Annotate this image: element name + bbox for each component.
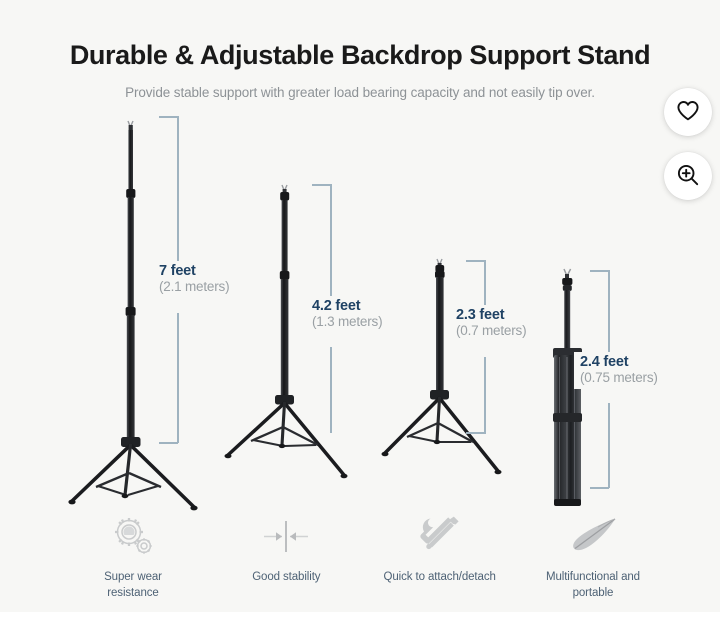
product-image[interactable]: Durable & Adjustable Backdrop Support St… bbox=[0, 0, 720, 612]
feature-super-wear-resistance: Super wearresistance bbox=[58, 512, 208, 608]
feature-label: Quick to attach/detach bbox=[365, 570, 515, 586]
stands-stage: 7 feet (2.1 meters) bbox=[0, 105, 720, 505]
stand-full-extended bbox=[62, 119, 212, 509]
feather-icon bbox=[518, 512, 668, 560]
tools-icon bbox=[365, 512, 515, 560]
feature-quick-attach-detach: Quick to attach/detach bbox=[365, 512, 515, 608]
add-to-wishlist-button[interactable] bbox=[664, 88, 712, 136]
stability-icon bbox=[211, 512, 361, 560]
dimension-label-stand-mid-extended: 4.2 feet (1.3 meters) bbox=[306, 296, 389, 333]
stand-low-extended bbox=[382, 257, 512, 513]
product-image-subtitle: Provide stable support with greater load… bbox=[0, 85, 720, 100]
magnifier-plus-icon bbox=[676, 163, 700, 190]
feature-multifunctional-portable: Multifunctional andportable bbox=[518, 512, 668, 608]
stand-mid-extended bbox=[222, 183, 362, 513]
heart-icon bbox=[676, 100, 700, 125]
feature-label: Multifunctional andportable bbox=[518, 570, 668, 601]
dimension-label-stand-folded: 2.4 feet (0.75 meters) bbox=[574, 352, 665, 389]
product-image-title: Durable & Adjustable Backdrop Support St… bbox=[0, 40, 720, 71]
feature-good-stability: Good stability bbox=[211, 512, 361, 608]
gears-icon bbox=[58, 512, 208, 560]
dimension-label-stand-low-extended: 2.3 feet (0.7 meters) bbox=[450, 305, 533, 342]
feature-label: Super wearresistance bbox=[58, 570, 208, 601]
feature-strip: Super wearresistance Good stability bbox=[58, 512, 668, 608]
feature-label: Good stability bbox=[211, 570, 361, 586]
zoom-image-button[interactable] bbox=[664, 152, 712, 200]
product-image-viewer: Durable & Adjustable Backdrop Support St… bbox=[0, 0, 720, 626]
